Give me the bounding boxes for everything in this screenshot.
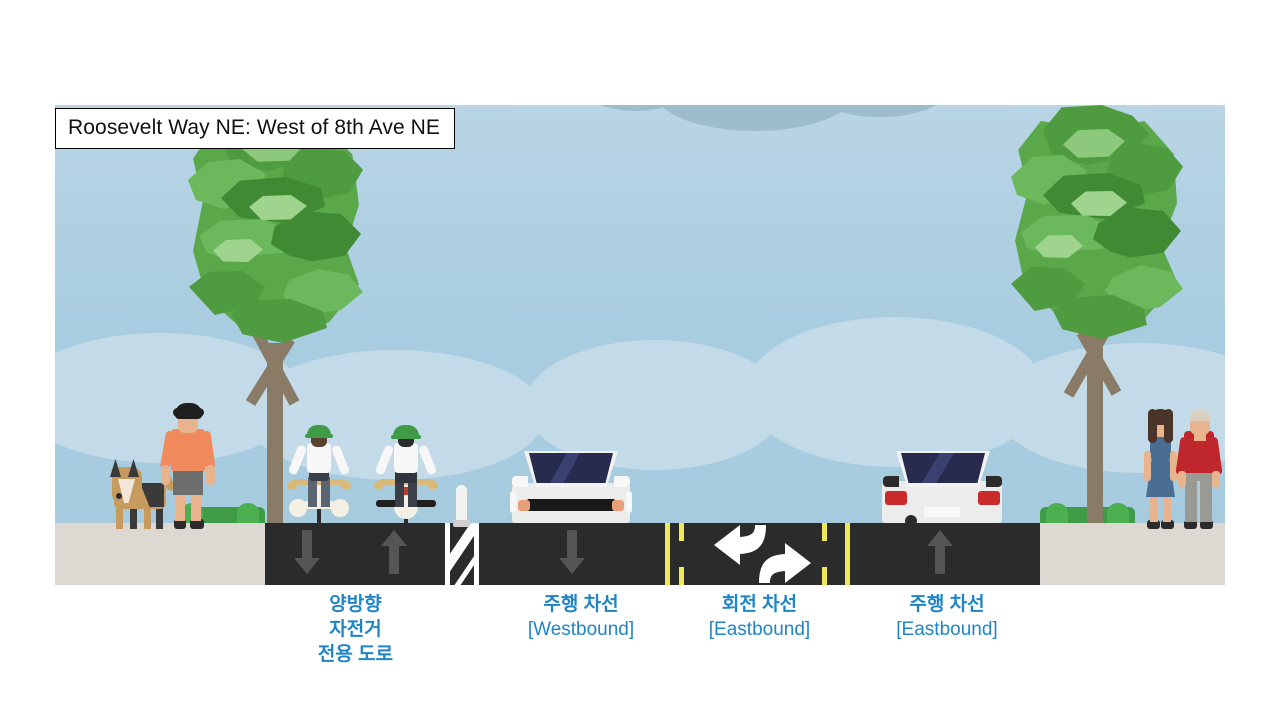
caption-westbound-lane: 주행 차선 [Westbound]	[490, 592, 672, 642]
bike-lane-arrow-up	[381, 530, 407, 574]
tree-canopy	[1005, 105, 1185, 353]
pedestrian-couple	[1140, 403, 1220, 529]
caption-direction: [Eastbound]	[672, 617, 847, 642]
buffer-zone-hatching	[445, 523, 479, 585]
caption-line: 주행 차선	[857, 592, 1037, 617]
bike-lane-arrow-down	[294, 530, 320, 574]
pedestrian	[160, 401, 216, 529]
caption-direction: [Westbound]	[490, 617, 672, 642]
car-westbound	[510, 439, 632, 535]
title-text: Roosevelt Way NE: West of 8th Ave NE	[68, 116, 440, 139]
yellow-dashed-line-right	[822, 523, 827, 541]
yellow-solid-line-left	[665, 523, 670, 585]
pedestrian-with-dog	[110, 399, 220, 529]
caption-line: 전용 도로	[268, 642, 443, 667]
westbound-arrow-down	[559, 530, 585, 574]
cross-section-illustration: Roosevelt Way NE: West of 8th Ave NE 양방향…	[0, 0, 1280, 720]
pedestrian-man	[1178, 403, 1220, 529]
caption-line: 자전거	[268, 617, 443, 642]
yellow-dashed-line-right	[822, 567, 827, 585]
eastbound-arrow-up	[927, 530, 953, 574]
flexible-bollard	[456, 485, 467, 527]
car-eastbound	[880, 439, 1004, 535]
street-scene	[55, 105, 1225, 585]
cyclist-westbound	[283, 423, 355, 535]
yellow-dashed-line-left	[679, 567, 684, 585]
title-label: Roosevelt Way NE: West of 8th Ave NE	[55, 108, 455, 149]
cyclist-eastbound	[370, 423, 442, 535]
caption-line: 주행 차선	[490, 592, 672, 617]
bike-lane-surface	[265, 523, 445, 585]
pedestrian-woman	[1140, 403, 1180, 529]
caption-line: 회전 차선	[672, 592, 847, 617]
yellow-dashed-line-left	[679, 523, 684, 541]
caption-bike-lane: 양방향 자전거 전용 도로	[268, 592, 443, 667]
caption-turn-lane: 회전 차선 [Eastbound]	[672, 592, 847, 642]
caption-eastbound-lane: 주행 차선 [Eastbound]	[857, 592, 1037, 642]
caption-direction: [Eastbound]	[857, 617, 1037, 642]
caption-line: 양방향	[268, 592, 443, 617]
right-turn-arrow	[755, 539, 815, 585]
